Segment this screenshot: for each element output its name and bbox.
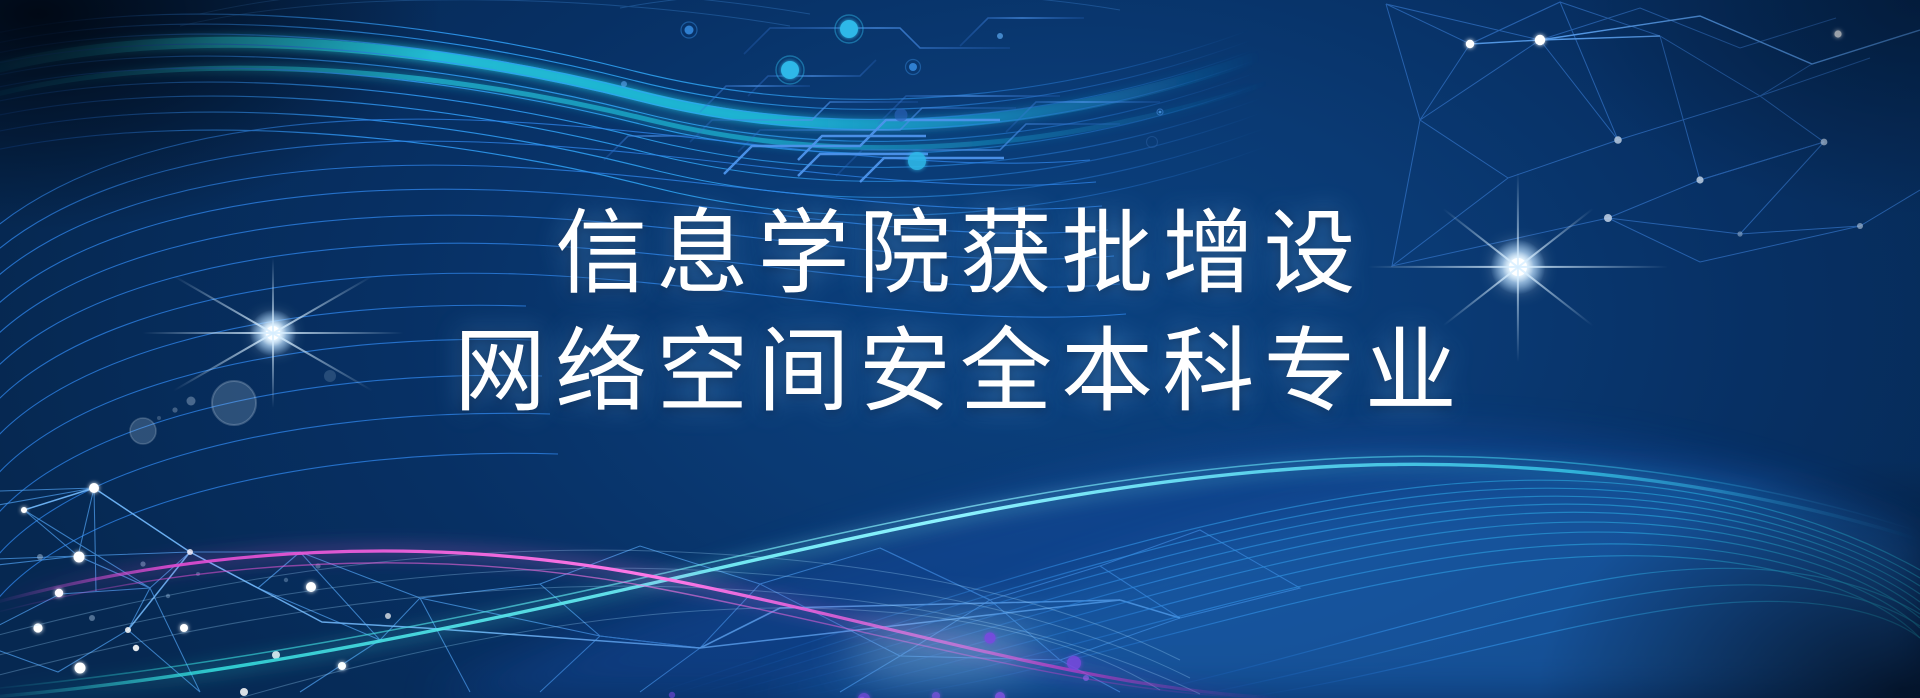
banner-root: 信息学院获批增设 网络空间安全本科专业: [0, 0, 1920, 698]
bokeh-circles-left: [0, 0, 1920, 698]
bokeh-circle-group: [130, 370, 336, 444]
